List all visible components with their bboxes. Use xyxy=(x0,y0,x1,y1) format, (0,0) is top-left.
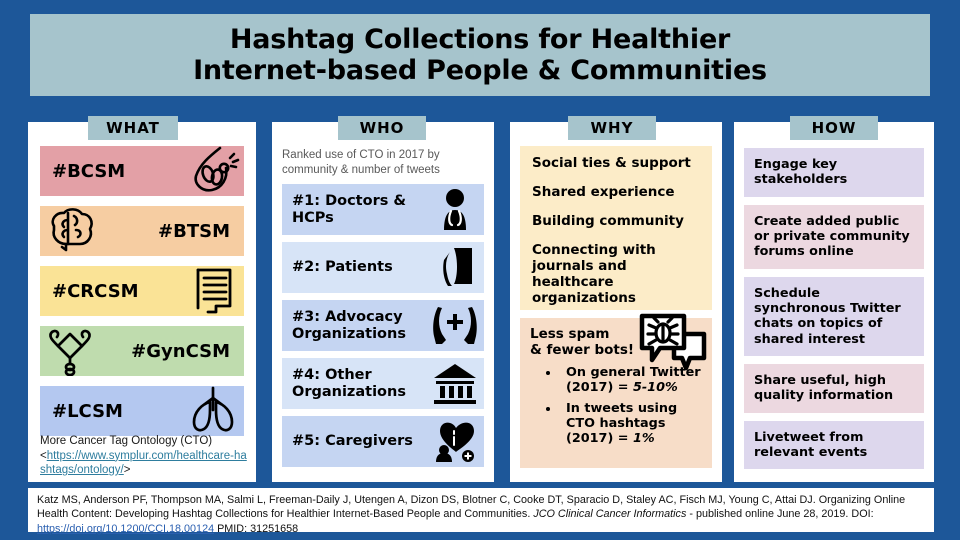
who-row: #4: Other Organizations xyxy=(282,358,484,409)
why-item-4: Connecting with journals and healthcare … xyxy=(532,243,700,307)
lungs-icon xyxy=(186,384,240,436)
bug-chat-icon xyxy=(634,310,708,380)
who-rank-4-label: #4: Other Organizations xyxy=(282,367,432,399)
colon-icon xyxy=(186,264,240,316)
column-who: Ranked use of CTO in 2017 by community &… xyxy=(272,122,494,482)
why-bullet-2-text: In tweets using CTO hashtags (2017) = xyxy=(566,401,677,447)
heading-why: WHY xyxy=(568,116,656,140)
how-rows: Engage key stakeholders Create added pub… xyxy=(744,148,924,477)
how-row-3: Schedule synchronous Twitter chats on to… xyxy=(744,277,924,356)
citation-doi-label: DOI: xyxy=(851,508,873,520)
citation-published: - published online June 28, 2019. xyxy=(689,508,848,520)
citation-journal: JCO Clinical Cancer Informatics xyxy=(533,508,686,520)
who-row: #2: Patients xyxy=(282,242,484,293)
hashtag-btsm: #BTSM xyxy=(158,221,230,242)
cto-note: More Cancer Tag Ontology (CTO) <https://… xyxy=(40,434,248,478)
who-rows: #1: Doctors & HCPs #2: Pa xyxy=(282,184,484,474)
column-why: Social ties & support Shared experience … xyxy=(510,122,722,482)
page-title-line1: Hashtag Collections for Healthier xyxy=(230,24,730,55)
advocacy-hands-icon xyxy=(432,302,478,348)
who-row: #1: Doctors & HCPs xyxy=(282,184,484,235)
how-row-5: Livetweet from relevant events xyxy=(744,421,924,470)
cto-note-close: > xyxy=(124,464,131,476)
citation-pmid: PMID: 31251658 xyxy=(217,523,298,535)
who-rank-5-label: #5: Caregivers xyxy=(282,433,413,449)
why-bullet-1-value: 5-10% xyxy=(633,380,678,395)
who-rank-2-label: #2: Patients xyxy=(282,259,393,275)
uterus-icon xyxy=(44,324,98,376)
why-bullet-2: In tweets using CTO hashtags (2017) = 1% xyxy=(560,401,702,447)
why-item-2: Shared experience xyxy=(532,185,700,201)
why-spam-block: Less spam& fewer bots! On general Twitte… xyxy=(520,318,712,468)
citation-doi-link[interactable]: https://doi.org/10.1200/CCI.18.00124 xyxy=(37,523,214,535)
hashtag-lcsm: #LCSM xyxy=(52,401,123,422)
who-rank-3-label: #3: Advocacy Organizations xyxy=(282,309,432,341)
why-benefits-block: Social ties & support Shared experience … xyxy=(520,146,712,310)
who-rank-1-label: #1: Doctors & HCPs xyxy=(282,193,432,225)
hashtag-gyncsm: #GynCSM xyxy=(131,341,230,362)
heading-who: WHO xyxy=(338,116,426,140)
why-item-1: Social ties & support xyxy=(532,156,700,172)
what-row: #BCSM xyxy=(40,146,244,196)
what-row: #LCSM xyxy=(40,386,244,436)
page-title-band: Hashtag Collections for Healthier Intern… xyxy=(30,14,930,96)
who-subtitle: Ranked use of CTO in 2017 by community &… xyxy=(282,148,484,178)
who-row: #3: Advocacy Organizations xyxy=(282,300,484,351)
citation-footer: Katz MS, Anderson PF, Thompson MA, Salmi… xyxy=(28,488,934,532)
infographic-canvas: Hashtag Collections for Healthier Intern… xyxy=(0,0,960,540)
page-title: Hashtag Collections for Healthier Intern… xyxy=(193,24,767,87)
breast-icon xyxy=(186,144,240,196)
hashtag-bcsm: #BCSM xyxy=(52,161,125,182)
institution-icon xyxy=(432,360,478,406)
what-rows: #BCSM #BTSM xyxy=(40,146,244,446)
how-row-4: Share useful, high quality information xyxy=(744,364,924,413)
why-bullet-2-value: 1% xyxy=(633,431,655,446)
column-how: Engage key stakeholders Create added pub… xyxy=(734,122,934,482)
cto-note-text: More Cancer Tag Ontology (CTO) xyxy=(40,435,212,447)
what-row: #CRCSM xyxy=(40,266,244,316)
who-row: #5: Caregivers xyxy=(282,416,484,467)
hashtag-crcsm: #CRCSM xyxy=(52,281,139,302)
caregiver-heart-icon xyxy=(432,418,478,464)
page-title-line2: Internet-based People & Communities xyxy=(193,55,767,86)
heading-what: WHAT xyxy=(88,116,178,140)
how-row-1: Engage key stakeholders xyxy=(744,148,924,197)
column-what: #BCSM #BTSM xyxy=(28,122,256,482)
cto-ontology-link[interactable]: https://www.symplur.com/healthcare-hasht… xyxy=(40,450,247,477)
how-row-2: Create added public or private community… xyxy=(744,205,924,269)
heading-how: HOW xyxy=(790,116,878,140)
why-item-3: Building community xyxy=(532,214,700,230)
citation-authors: Katz MS, Anderson PF, Thompson MA, Salmi… xyxy=(37,494,816,506)
doctor-icon xyxy=(432,186,478,232)
what-row: #BTSM xyxy=(40,206,244,256)
what-row: #GynCSM xyxy=(40,326,244,376)
brain-icon xyxy=(44,204,98,256)
cto-note-open: < xyxy=(40,450,47,462)
patient-icon xyxy=(432,244,478,290)
